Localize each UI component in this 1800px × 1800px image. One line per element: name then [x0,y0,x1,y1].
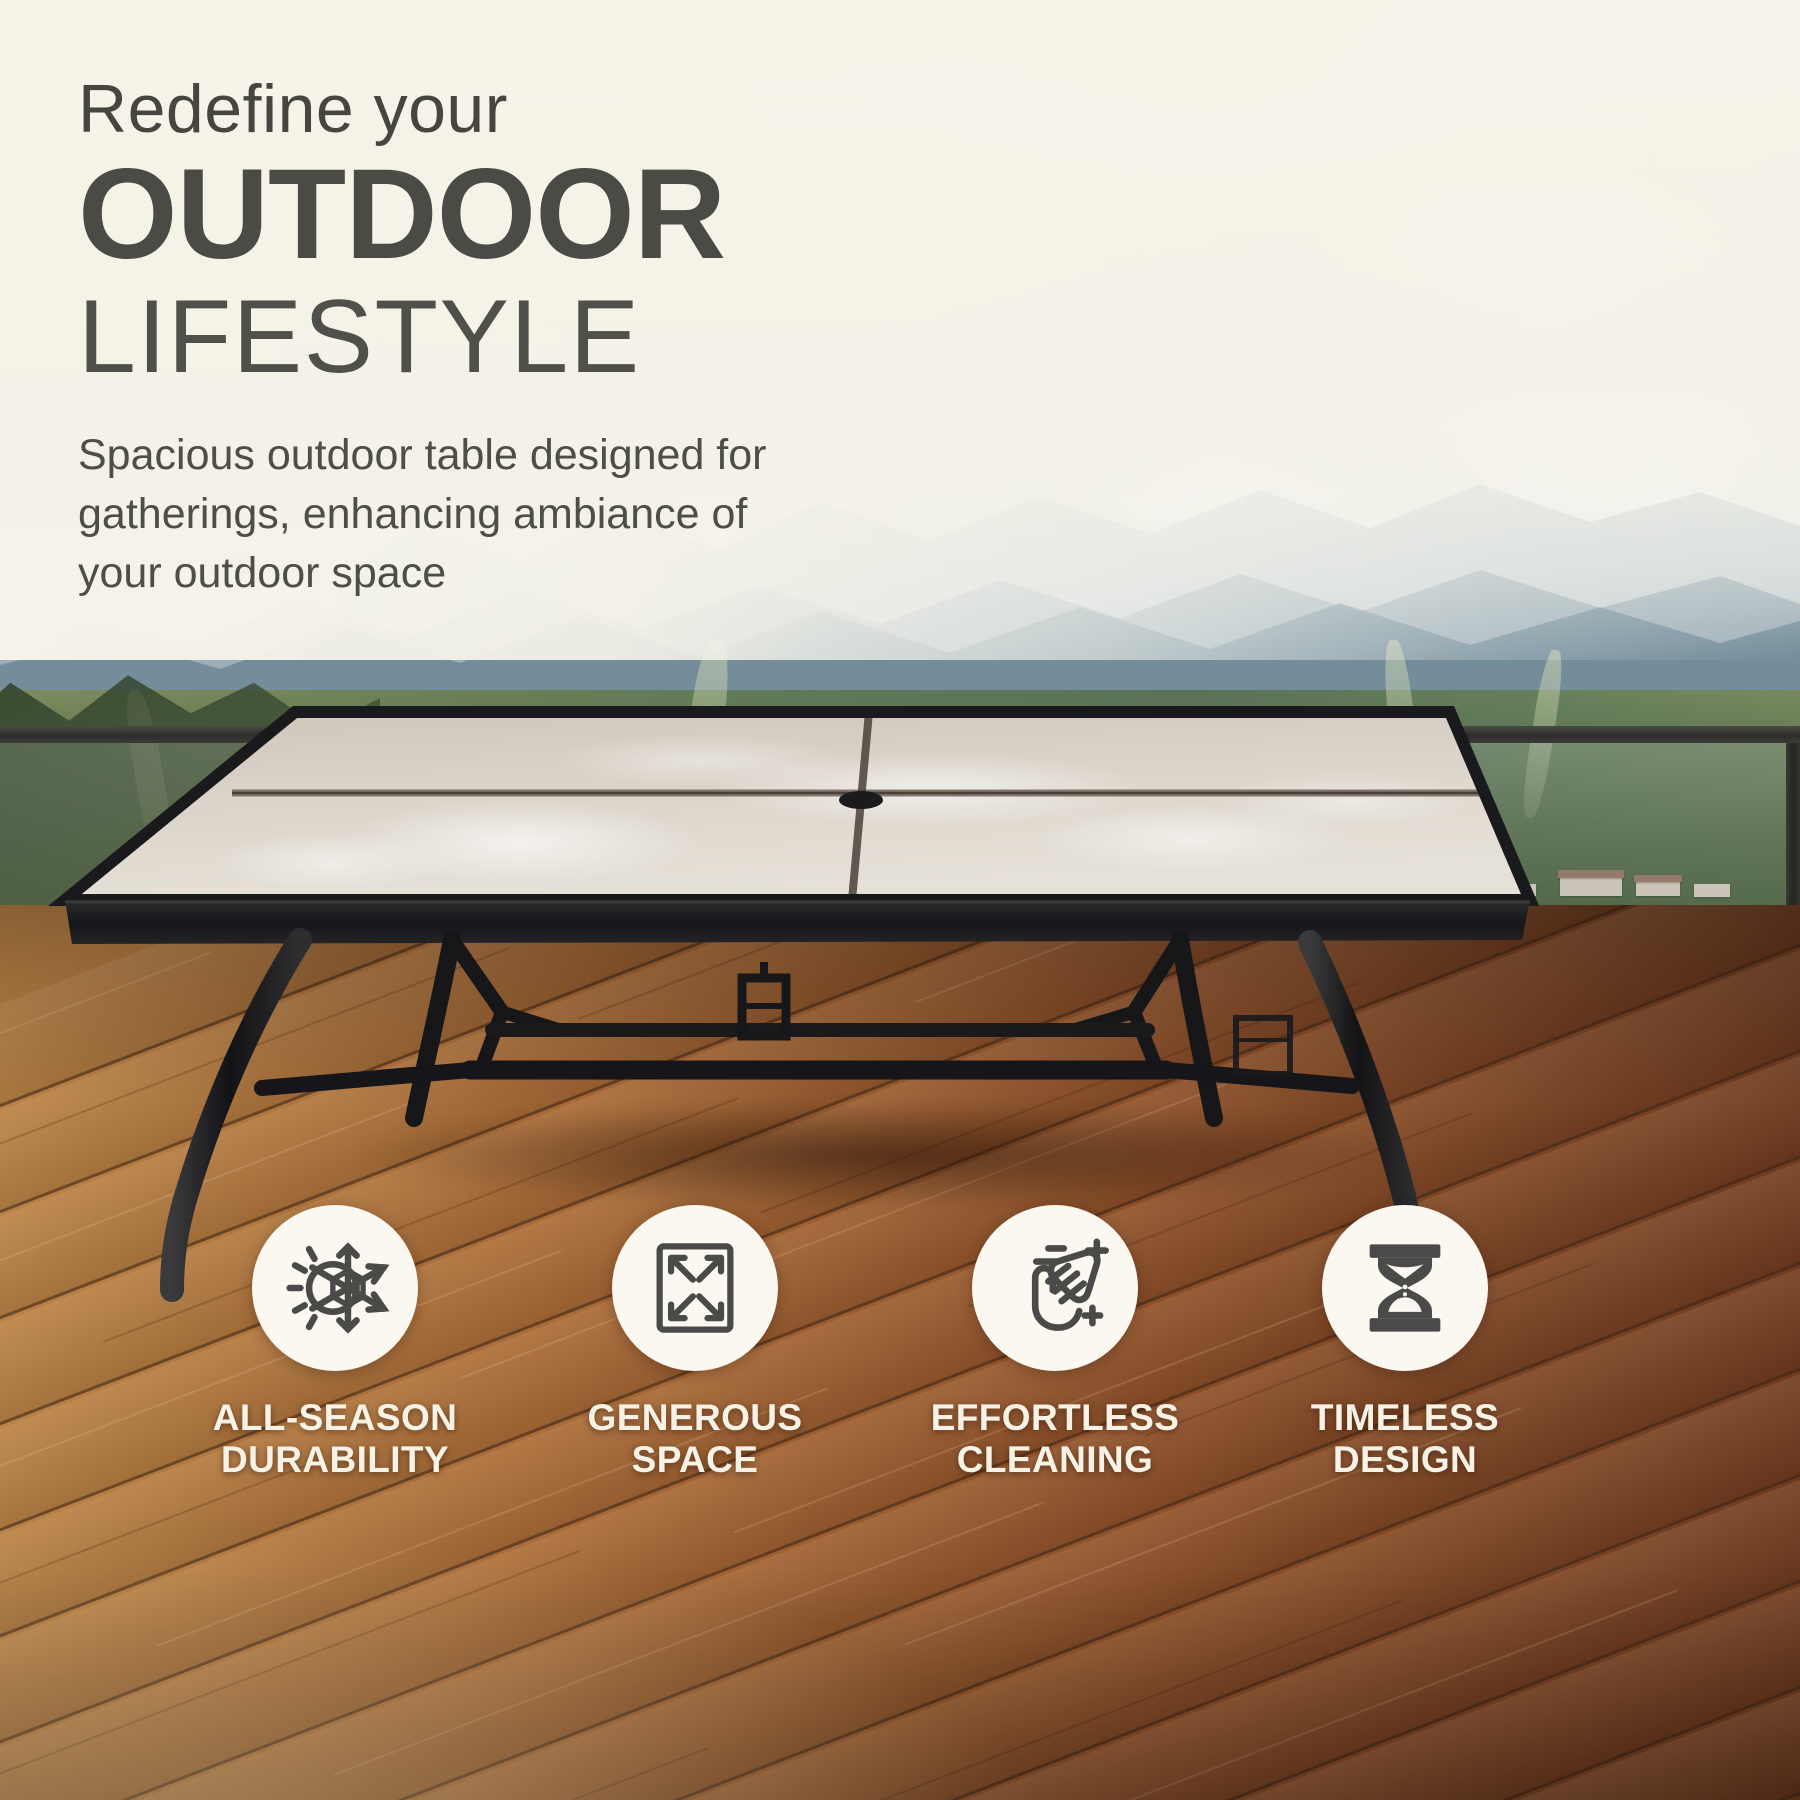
headline-eyebrow: Redefine your [78,74,978,145]
sun-snowflake-icon [281,1234,389,1342]
feature-badge-row: ALL-SEASON DURABILITY [150,1205,1650,1625]
feature-icon-circle [1322,1205,1488,1371]
feature-icon-circle [972,1205,1138,1371]
feature-icon-circle [612,1205,778,1371]
product-marketing-banner: Redefine your OUTDOOR LIFESTYLE Spacious… [0,0,1800,1800]
feature-all-season-durability: ALL-SEASON DURABILITY [150,1205,520,1481]
hand-wiping-sparkle-icon [1000,1233,1110,1343]
headline-secondary: LIFESTYLE [78,283,978,391]
railing-top-bar [0,726,1800,743]
feature-icon-circle [252,1205,418,1371]
expand-arrows-icon [643,1236,747,1340]
feature-label: EFFORTLESS CLEANING [870,1397,1240,1481]
feature-label: ALL-SEASON DURABILITY [150,1397,520,1481]
headline-copy-block: Redefine your OUTDOOR LIFESTYLE Spacious… [78,74,978,604]
headline-overlay-panel: Redefine your OUTDOOR LIFESTYLE Spacious… [0,0,1800,660]
feature-label: TIMELESS DESIGN [1240,1397,1570,1481]
feature-label: GENEROUS SPACE [520,1397,870,1481]
feature-effortless-cleaning: EFFORTLESS CLEANING [870,1205,1240,1481]
subtitle-text: Spacious outdoor table designed for gath… [78,426,838,604]
feature-timeless-design: TIMELESS DESIGN [1240,1205,1570,1481]
feature-generous-space: GENEROUS SPACE [520,1205,870,1481]
hourglass-icon [1353,1236,1457,1340]
headline-primary: OUTDOOR [78,151,978,279]
